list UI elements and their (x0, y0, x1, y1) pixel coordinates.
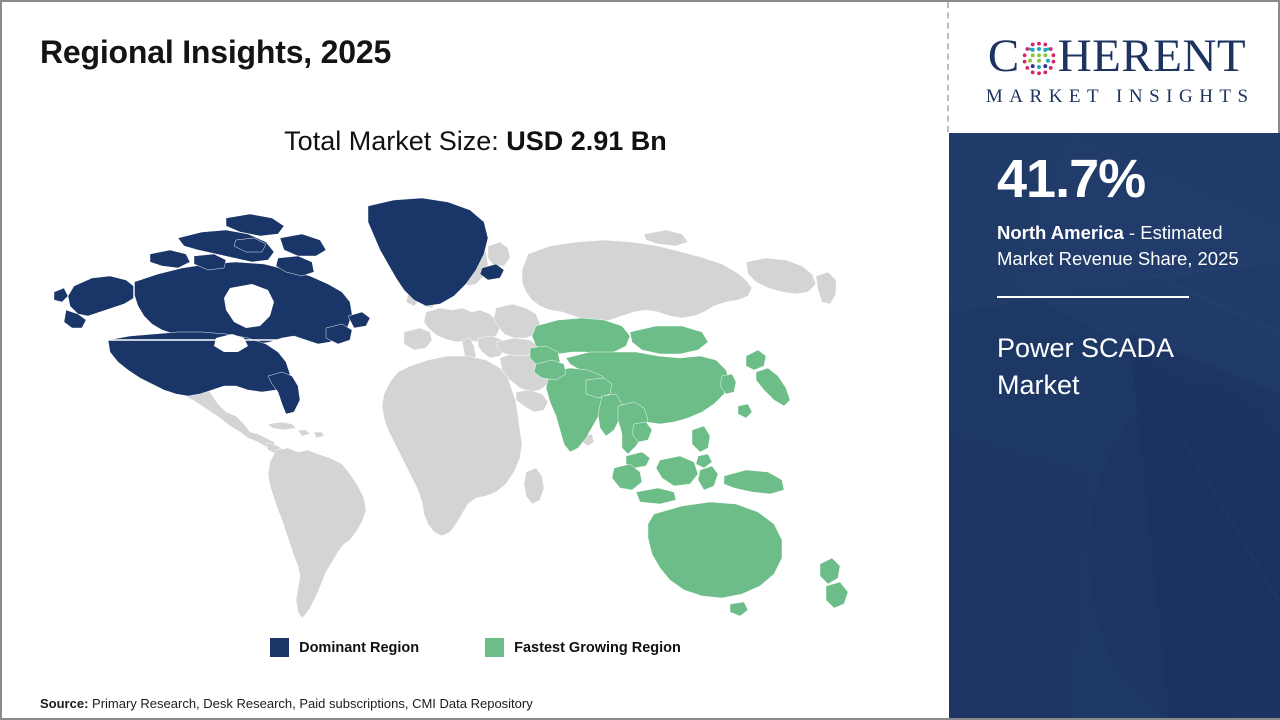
navy-square-swatch-icon (270, 638, 289, 657)
source-note: Source: Primary Research, Desk Research,… (40, 696, 533, 711)
logo-tagline: MARKET INSIGHTS (979, 86, 1254, 108)
panel-horizontal-rule (997, 296, 1189, 298)
legend-label-fastest-growing: Fastest Growing Region (514, 640, 681, 656)
legend-label-dominant: Dominant Region (299, 640, 419, 656)
source-label: Source: (40, 696, 88, 711)
logo-letter-c: C (988, 33, 1020, 80)
legend-item-dominant: Dominant Region (270, 638, 419, 657)
market-size-value: USD 2.91 Bn (506, 126, 667, 156)
map-legend: Dominant Region Fastest Growing Region (2, 638, 949, 657)
green-square-swatch-icon (485, 638, 504, 657)
market-name: Power SCADA Market (997, 330, 1237, 403)
stat-percent-value: 41.7% (997, 151, 1265, 208)
market-size-label: Total Market Size: (284, 126, 506, 156)
company-logo: C (964, 22, 1270, 118)
vertical-dashed-divider (947, 2, 949, 132)
infographic-canvas: Regional Insights, 2025 Total Market Siz… (0, 0, 1280, 720)
globe-dots-icon (1021, 40, 1057, 76)
world-map (30, 180, 910, 620)
left-content-pane: Regional Insights, 2025 Total Market Siz… (2, 2, 949, 718)
source-text: Primary Research, Desk Research, Paid su… (88, 696, 532, 711)
legend-item-fastest-growing: Fastest Growing Region (485, 638, 681, 657)
stat-description: North America - Estimated Market Revenue… (997, 220, 1259, 273)
map-region-asia-pacific (530, 318, 848, 616)
total-market-size: Total Market Size: USD 2.91 Bn (2, 126, 949, 157)
page-title: Regional Insights, 2025 (40, 34, 391, 71)
logo-wordmark: C (988, 33, 1246, 80)
stat-panel-content: 41.7% North America - Estimated Market R… (997, 151, 1265, 403)
stat-region-name: North America (997, 222, 1124, 243)
stat-panel: 41.7% North America - Estimated Market R… (949, 133, 1280, 718)
world-map-svg (30, 180, 910, 620)
logo-letters-herent: HERENT (1058, 33, 1246, 80)
